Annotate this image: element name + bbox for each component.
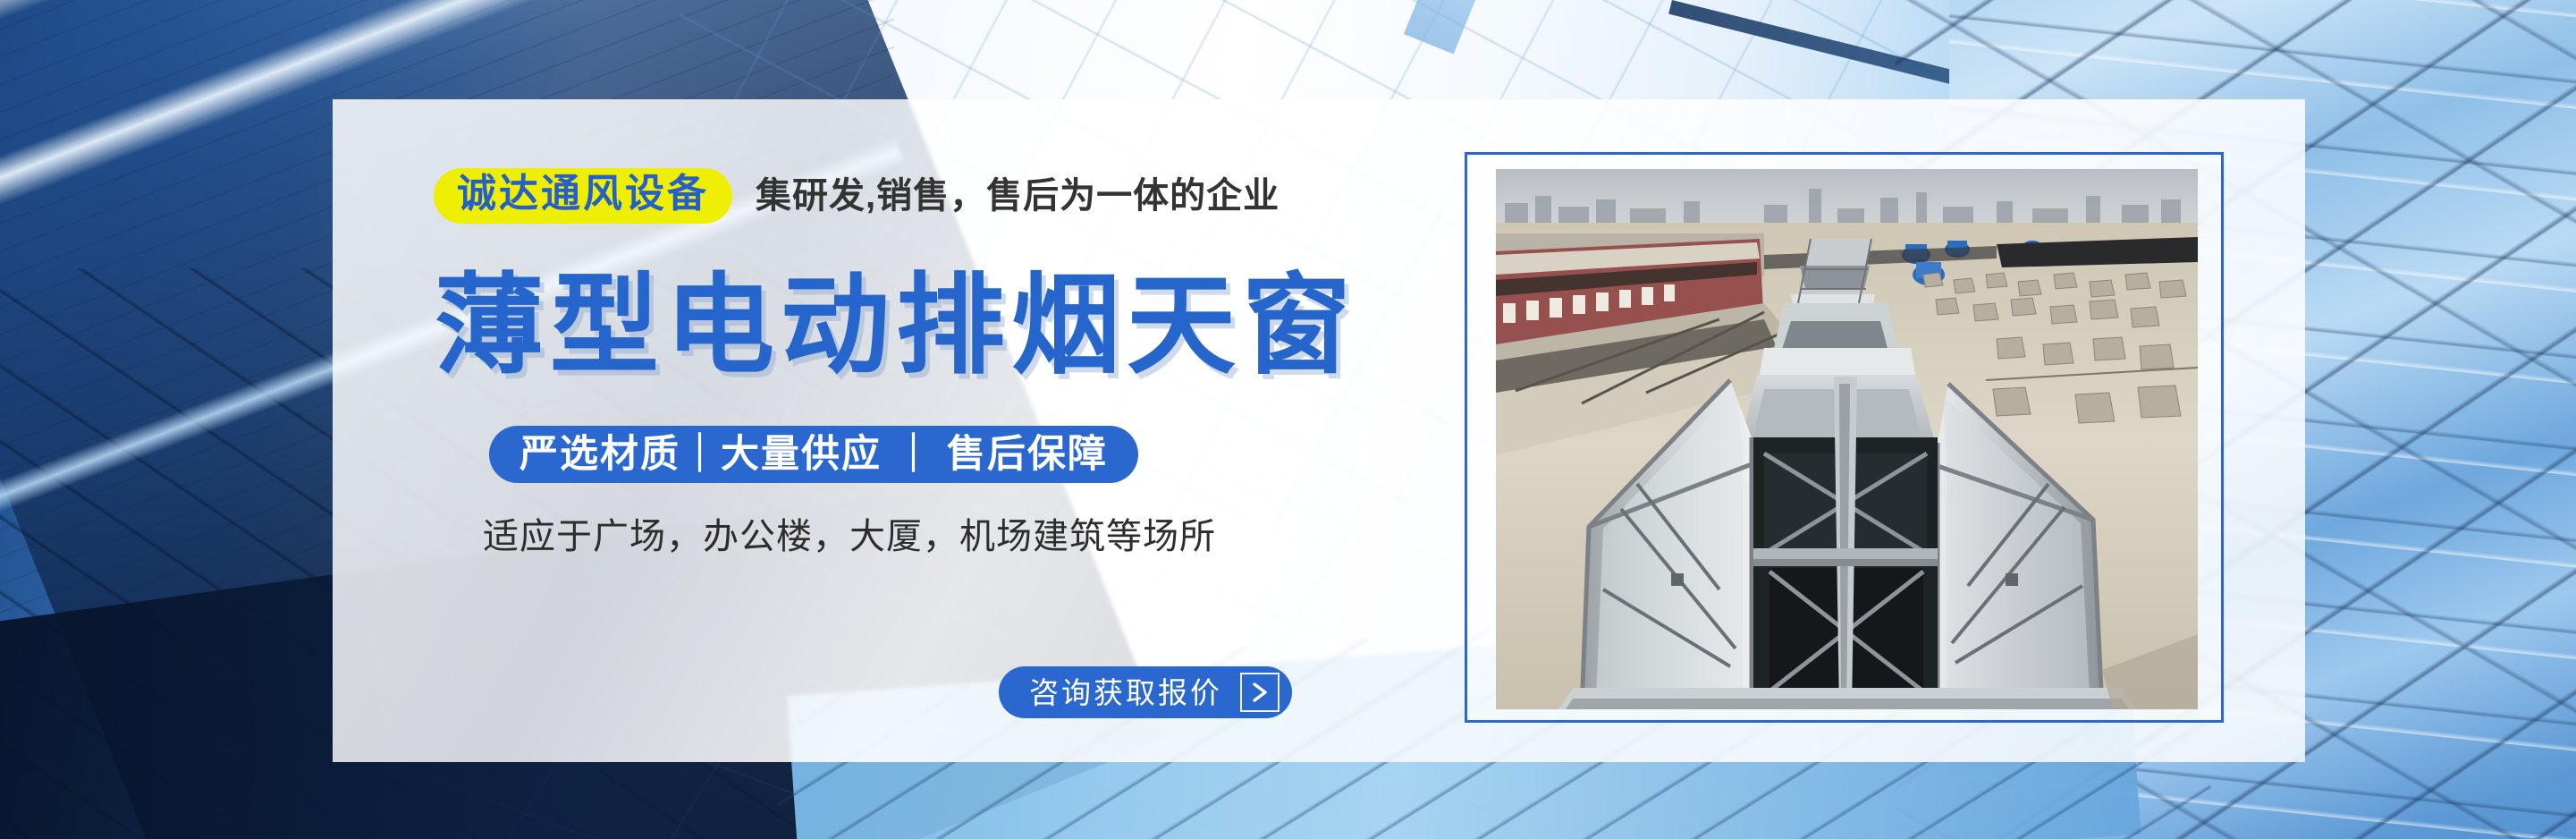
product-photo-frame: [1465, 152, 2224, 723]
page-title: 薄型电动排烟天窗: [435, 268, 1357, 384]
feature-highlights-text: 严选材质｜大量供应 ｜ 售后保障: [519, 436, 1108, 474]
promo-banner: 诚达通风设备 集研发,销售，售后为一体的企业 薄型电动排烟天窗 严选材质｜大量供…: [0, 0, 2576, 839]
feature-highlights-pill: 严选材质｜大量供应 ｜ 售后保障: [489, 426, 1138, 483]
chevron-right-icon: [1240, 673, 1280, 712]
get-quote-button[interactable]: 咨询获取报价: [999, 666, 1292, 718]
application-scenarios-text: 适应于广场，办公楼，大厦，机场建筑等场所: [483, 519, 1216, 555]
brand-name-pill: 诚达通风设备: [434, 168, 732, 224]
tagline-row: 诚达通风设备 集研发,销售，售后为一体的企业: [434, 168, 1280, 224]
product-photo: [1496, 169, 2198, 709]
tagline-text: 集研发,销售，售后为一体的企业: [756, 178, 1280, 214]
get-quote-button-label: 咨询获取报价: [1029, 678, 1222, 708]
